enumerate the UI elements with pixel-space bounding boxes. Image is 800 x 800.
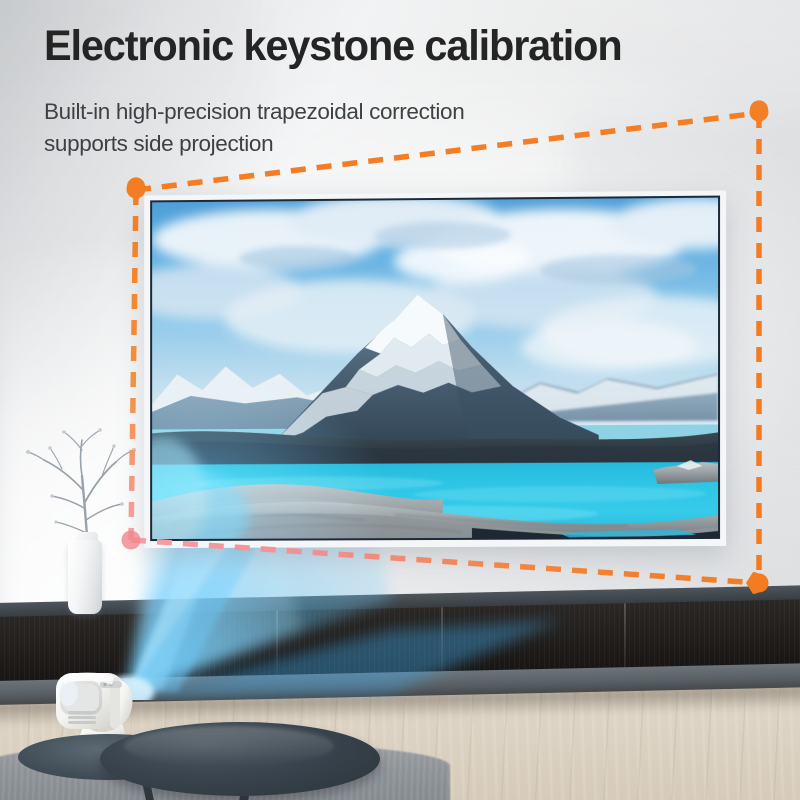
mountain-lake-scene	[152, 198, 718, 539]
projected-image-screen	[144, 191, 726, 549]
drawer-seam-2	[441, 607, 443, 675]
promo-banner: Electronic keystone calibration Built-in…	[0, 0, 800, 800]
page-title: Electronic keystone calibration	[44, 24, 748, 70]
drawer-seam-1	[276, 611, 278, 679]
round-coffee-table	[60, 716, 400, 800]
screen-image-area	[150, 196, 720, 541]
table-top-highlight	[124, 726, 334, 766]
subtitle-line-2: supports side projection	[44, 128, 584, 160]
drawer-seam-3	[624, 603, 626, 671]
vase	[68, 540, 102, 614]
page-subtitle: Built-in high-precision trapezoidal corr…	[44, 96, 584, 160]
subtitle-line-1: Built-in high-precision trapezoidal corr…	[44, 99, 464, 124]
